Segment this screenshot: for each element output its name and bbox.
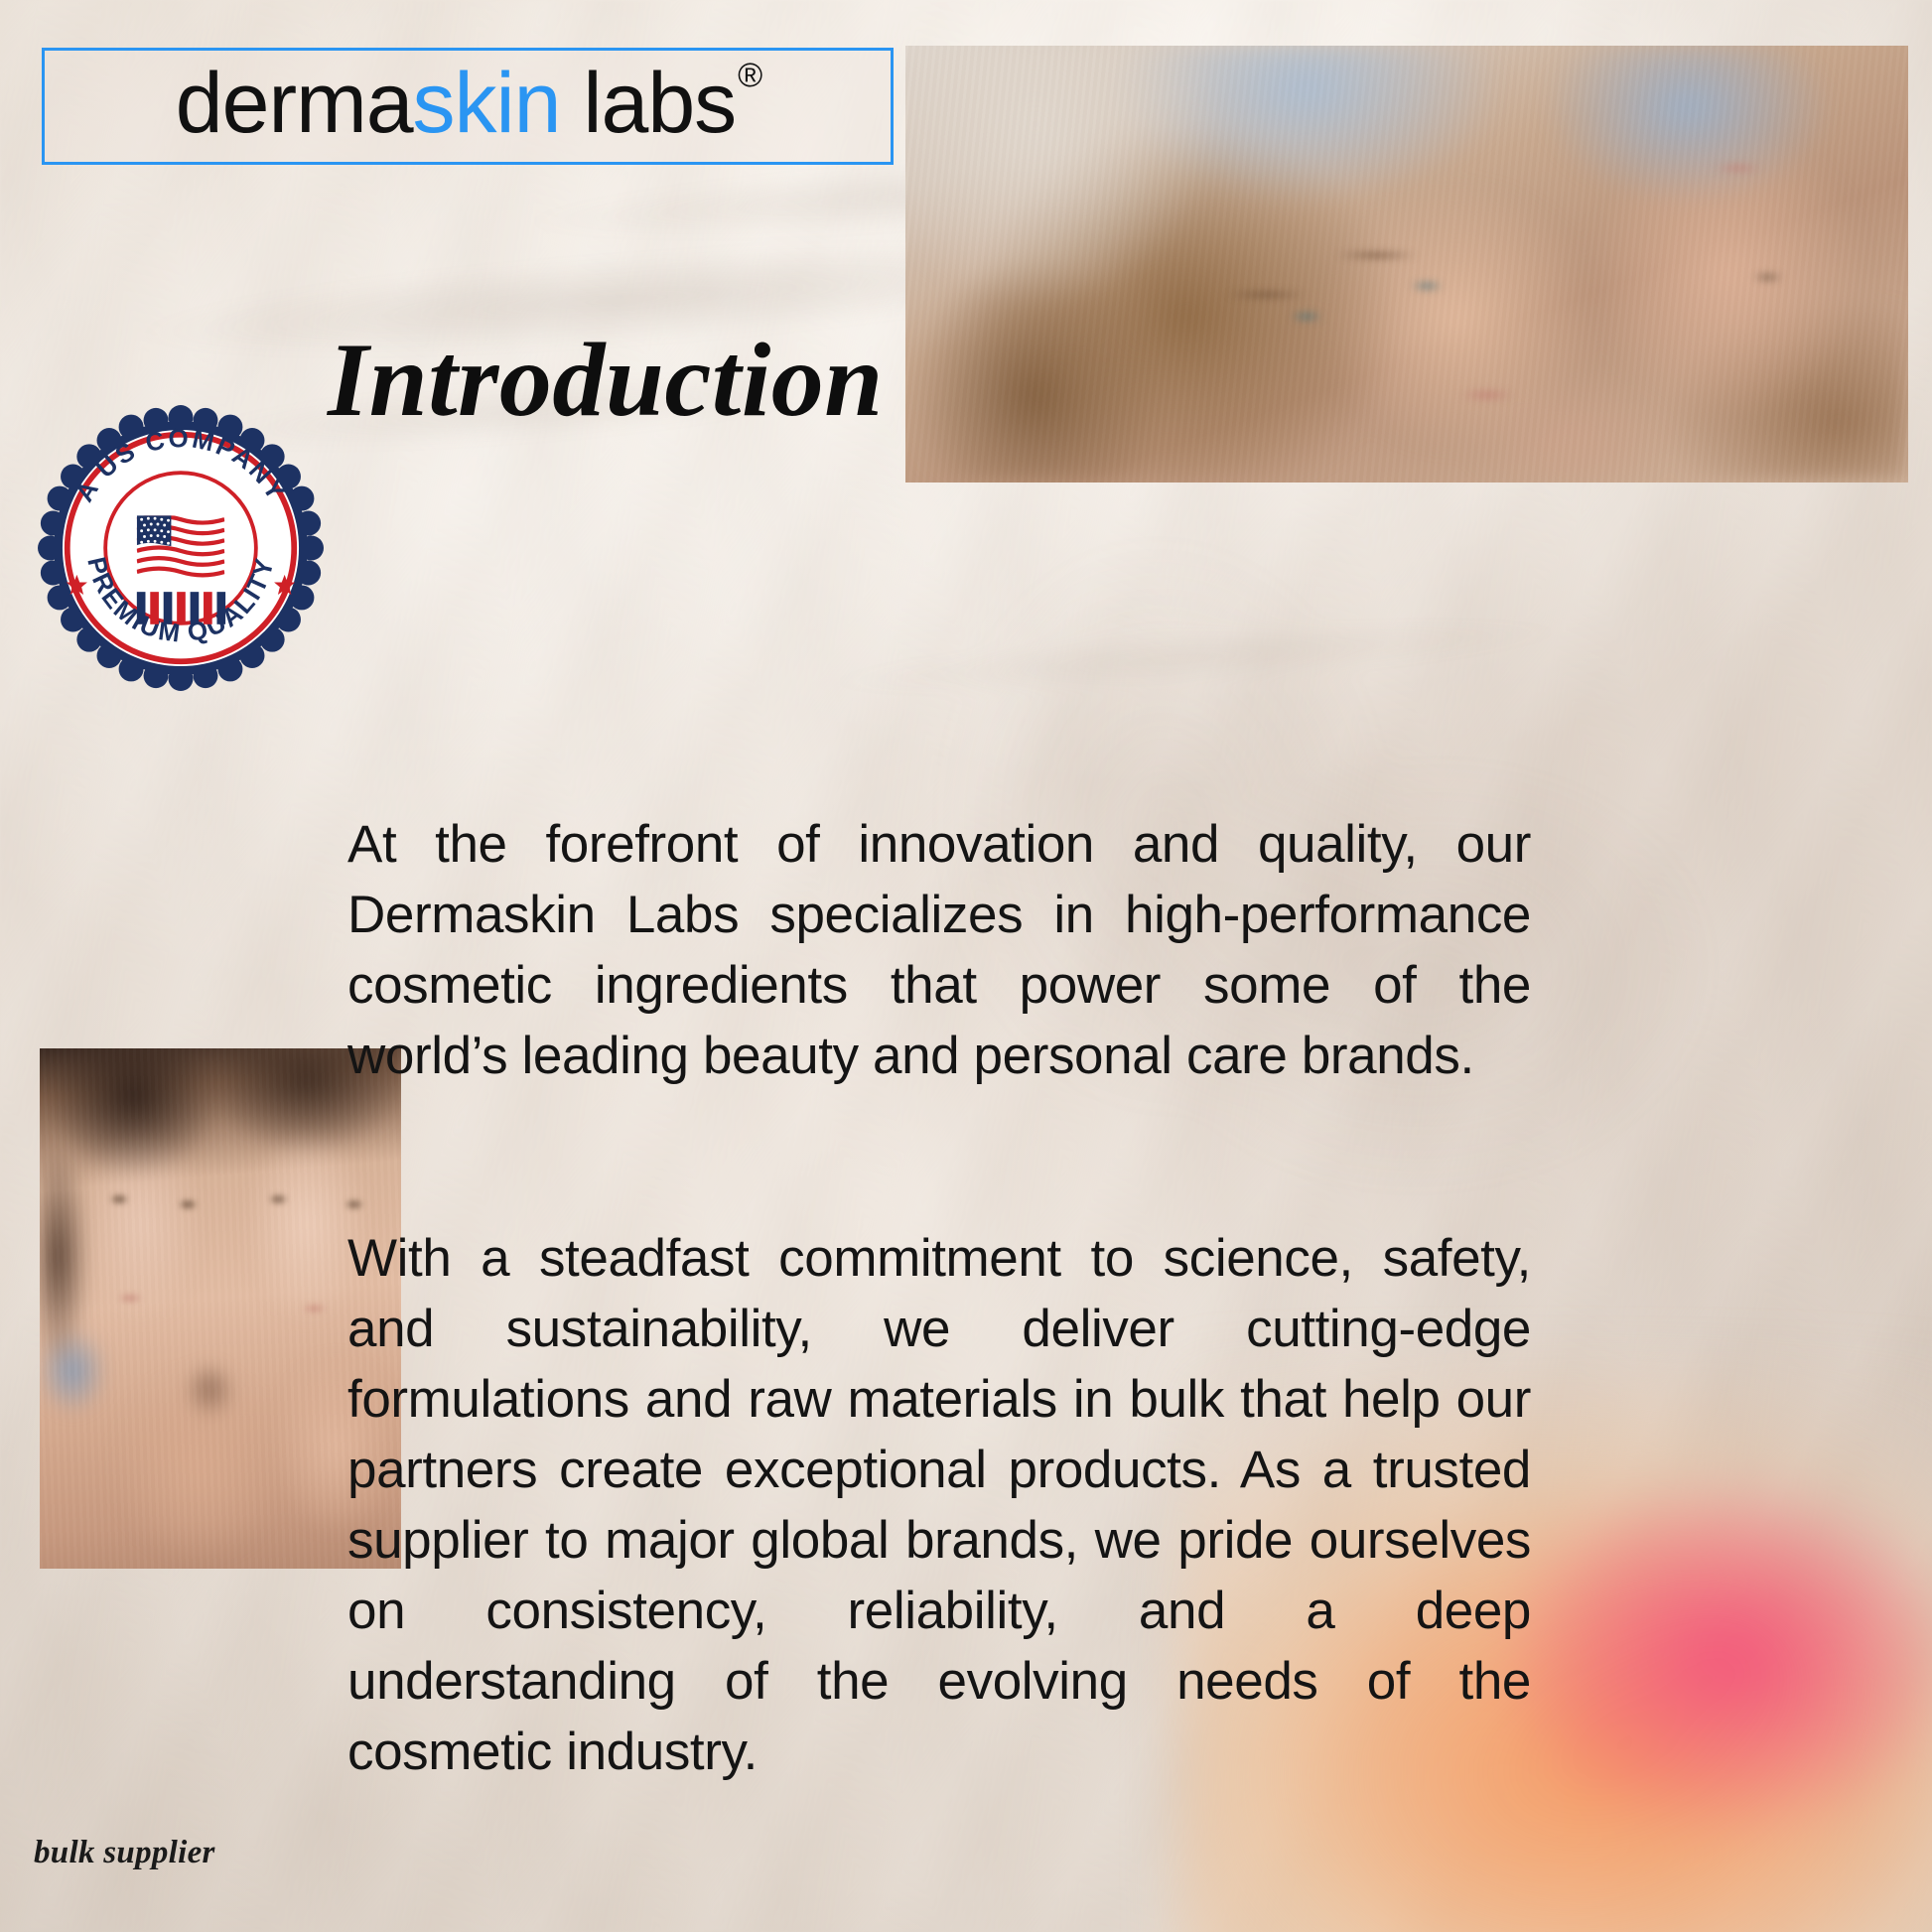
intro-paragraph-1: At the forefront of innovation and quali… <box>347 809 1531 1091</box>
logo-word-skin: skin <box>413 56 561 151</box>
registered-trademark-icon: ® <box>738 57 761 94</box>
brand-logo-text: dermaskin labs® <box>176 61 759 146</box>
us-company-badge-graphic: A US COMPANY PREMIUM QUALITY <box>38 405 324 691</box>
brand-logo: dermaskin labs® <box>42 48 894 165</box>
slide-canvas: dermaskin labs® Introduction <box>0 0 1932 1932</box>
intro-paragraph-2: With a steadfast commitment to science, … <box>347 1223 1531 1787</box>
page-title: Introduction <box>328 328 884 433</box>
us-company-badge: A US COMPANY PREMIUM QUALITY <box>38 405 324 691</box>
logo-word-labs: labs <box>560 56 736 151</box>
footer-caption: bulk supplier <box>34 1835 215 1871</box>
hero-image-top-right <box>905 46 1908 483</box>
logo-word-derma: derma <box>176 56 413 151</box>
